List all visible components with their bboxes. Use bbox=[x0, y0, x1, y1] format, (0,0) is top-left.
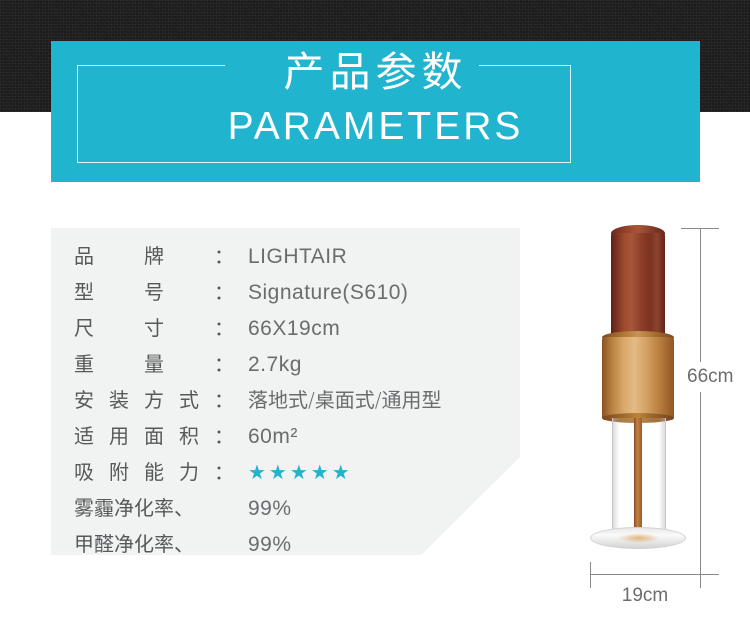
spec-row-adsorption: 吸附能力： ★★★★★ bbox=[74, 456, 514, 492]
spec-value-coverage-area: 60m² bbox=[234, 425, 298, 449]
spec-row-weight: 重量： 2.7kg bbox=[74, 348, 514, 384]
spec-value-brand: LIGHTAIR bbox=[234, 245, 347, 269]
spec-value-installation: 落地式/桌面式/通用型 bbox=[234, 384, 441, 413]
spec-row-haze-purification: 雾霾净化率、 99% bbox=[74, 492, 514, 528]
adsorption-star-rating: ★★★★★ bbox=[234, 463, 353, 483]
product-parameters-page: 产品参数 PARAMETERS 品牌： LIGHTAIR 型号： Signatu… bbox=[0, 0, 750, 644]
product-copper-rod bbox=[634, 418, 642, 538]
spec-row-model: 型号： Signature(S610) bbox=[74, 276, 514, 312]
spec-label-brand: 品牌： bbox=[74, 240, 234, 269]
spec-label-model: 型号： bbox=[74, 276, 234, 305]
product-base-glow bbox=[618, 533, 660, 543]
banner-title-chinese: 产品参数 bbox=[51, 48, 700, 96]
spec-label-size: 尺寸： bbox=[74, 312, 234, 341]
spec-row-coverage-area: 适用面积： 60m² bbox=[74, 420, 514, 456]
spec-row-brand: 品牌： LIGHTAIR bbox=[74, 240, 514, 276]
spec-row-installation: 安装方式： 落地式/桌面式/通用型 bbox=[74, 384, 514, 420]
spec-value-formaldehyde-purification: 99% bbox=[234, 533, 292, 557]
spec-value-model: Signature(S610) bbox=[234, 281, 408, 305]
spec-row-formaldehyde-purification: 甲醛净化率、 99% bbox=[74, 528, 514, 564]
spec-label-weight: 重量： bbox=[74, 348, 234, 377]
spec-label-installation: 安装方式： bbox=[74, 384, 234, 413]
spec-value-haze-purification: 99% bbox=[234, 497, 292, 521]
width-dimension-label: 19cm bbox=[590, 585, 700, 607]
height-dimension-label: 66cm bbox=[685, 362, 735, 392]
spec-label-coverage-area: 适用面积： bbox=[74, 420, 234, 449]
spec-label-adsorption: 吸附能力： bbox=[74, 456, 234, 485]
width-dimension-tick-right bbox=[700, 562, 701, 588]
product-copper-band bbox=[602, 337, 674, 420]
banner-title-english: PARAMETERS bbox=[51, 104, 700, 150]
height-dimension-line bbox=[700, 228, 701, 574]
spec-value-weight: 2.7kg bbox=[234, 353, 302, 377]
spec-label-formaldehyde-purification: 甲醛净化率、 bbox=[74, 528, 234, 557]
product-image-air-purifier bbox=[578, 215, 698, 575]
spec-label-haze-purification: 雾霾净化率、 bbox=[74, 492, 234, 521]
spec-row-size: 尺寸： 66X19cm bbox=[74, 312, 514, 348]
spec-value-size: 66X19cm bbox=[234, 317, 340, 341]
width-dimension-line bbox=[590, 574, 700, 575]
specification-list: 品牌： LIGHTAIR 型号： Signature(S610) 尺寸： 66X… bbox=[74, 240, 514, 564]
